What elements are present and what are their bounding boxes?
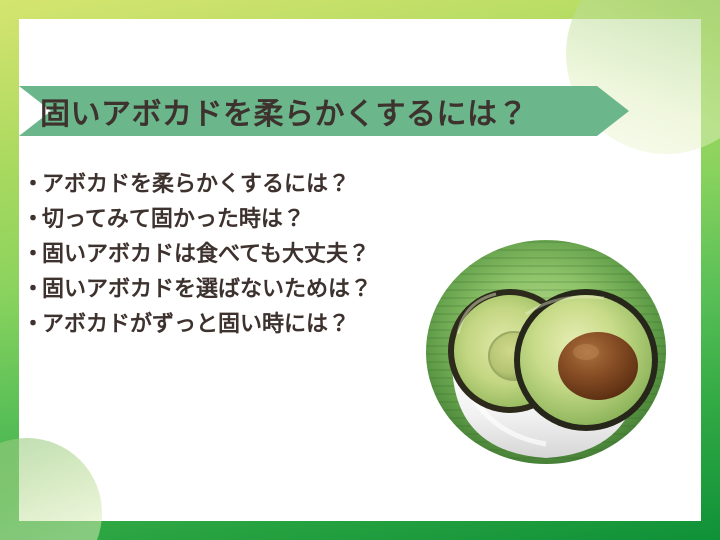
list-item: ・切ってみて固かった時は？ xyxy=(22,201,492,236)
bullet-list: ・アボカドを柔らかくするには？ ・切ってみて固かった時は？ ・固いアボカドは食べ… xyxy=(22,166,492,341)
list-item: ・固いアボカドを選ばないためは？ xyxy=(22,271,492,306)
list-item-label: 固いアボカドは食べても大丈夫？ xyxy=(42,241,370,266)
list-item: ・固いアボカドは食べても大丈夫？ xyxy=(22,236,492,271)
list-item: ・アボカドを柔らかくするには？ xyxy=(22,166,492,201)
bullet-marker-icon: ・ xyxy=(22,271,42,306)
page-title: 固いアボカドを柔らかくするには？ xyxy=(40,86,620,136)
bullet-marker-icon: ・ xyxy=(22,166,42,201)
bullet-marker-icon: ・ xyxy=(22,201,42,236)
list-item-label: 固いアボカドを選ばないためは？ xyxy=(42,276,372,301)
avocado-pit xyxy=(558,332,638,400)
slide: 固いアボカドを柔らかくするには？ ・アボカドを柔らかくするには？ ・切ってみて固… xyxy=(0,0,720,540)
bullet-marker-icon: ・ xyxy=(22,236,42,271)
avocado-half-right xyxy=(514,289,658,431)
list-item-label: 切ってみて固かった時は？ xyxy=(42,206,305,231)
list-item-label: アボカドがずっと固い時には？ xyxy=(42,311,350,336)
bullet-marker-icon: ・ xyxy=(22,306,42,341)
list-item-label: アボカドを柔らかくするには？ xyxy=(42,171,350,196)
slide-content: 固いアボカドを柔らかくするには？ ・アボカドを柔らかくするには？ ・切ってみて固… xyxy=(0,0,720,540)
list-item: ・アボカドがずっと固い時には？ xyxy=(22,306,492,341)
